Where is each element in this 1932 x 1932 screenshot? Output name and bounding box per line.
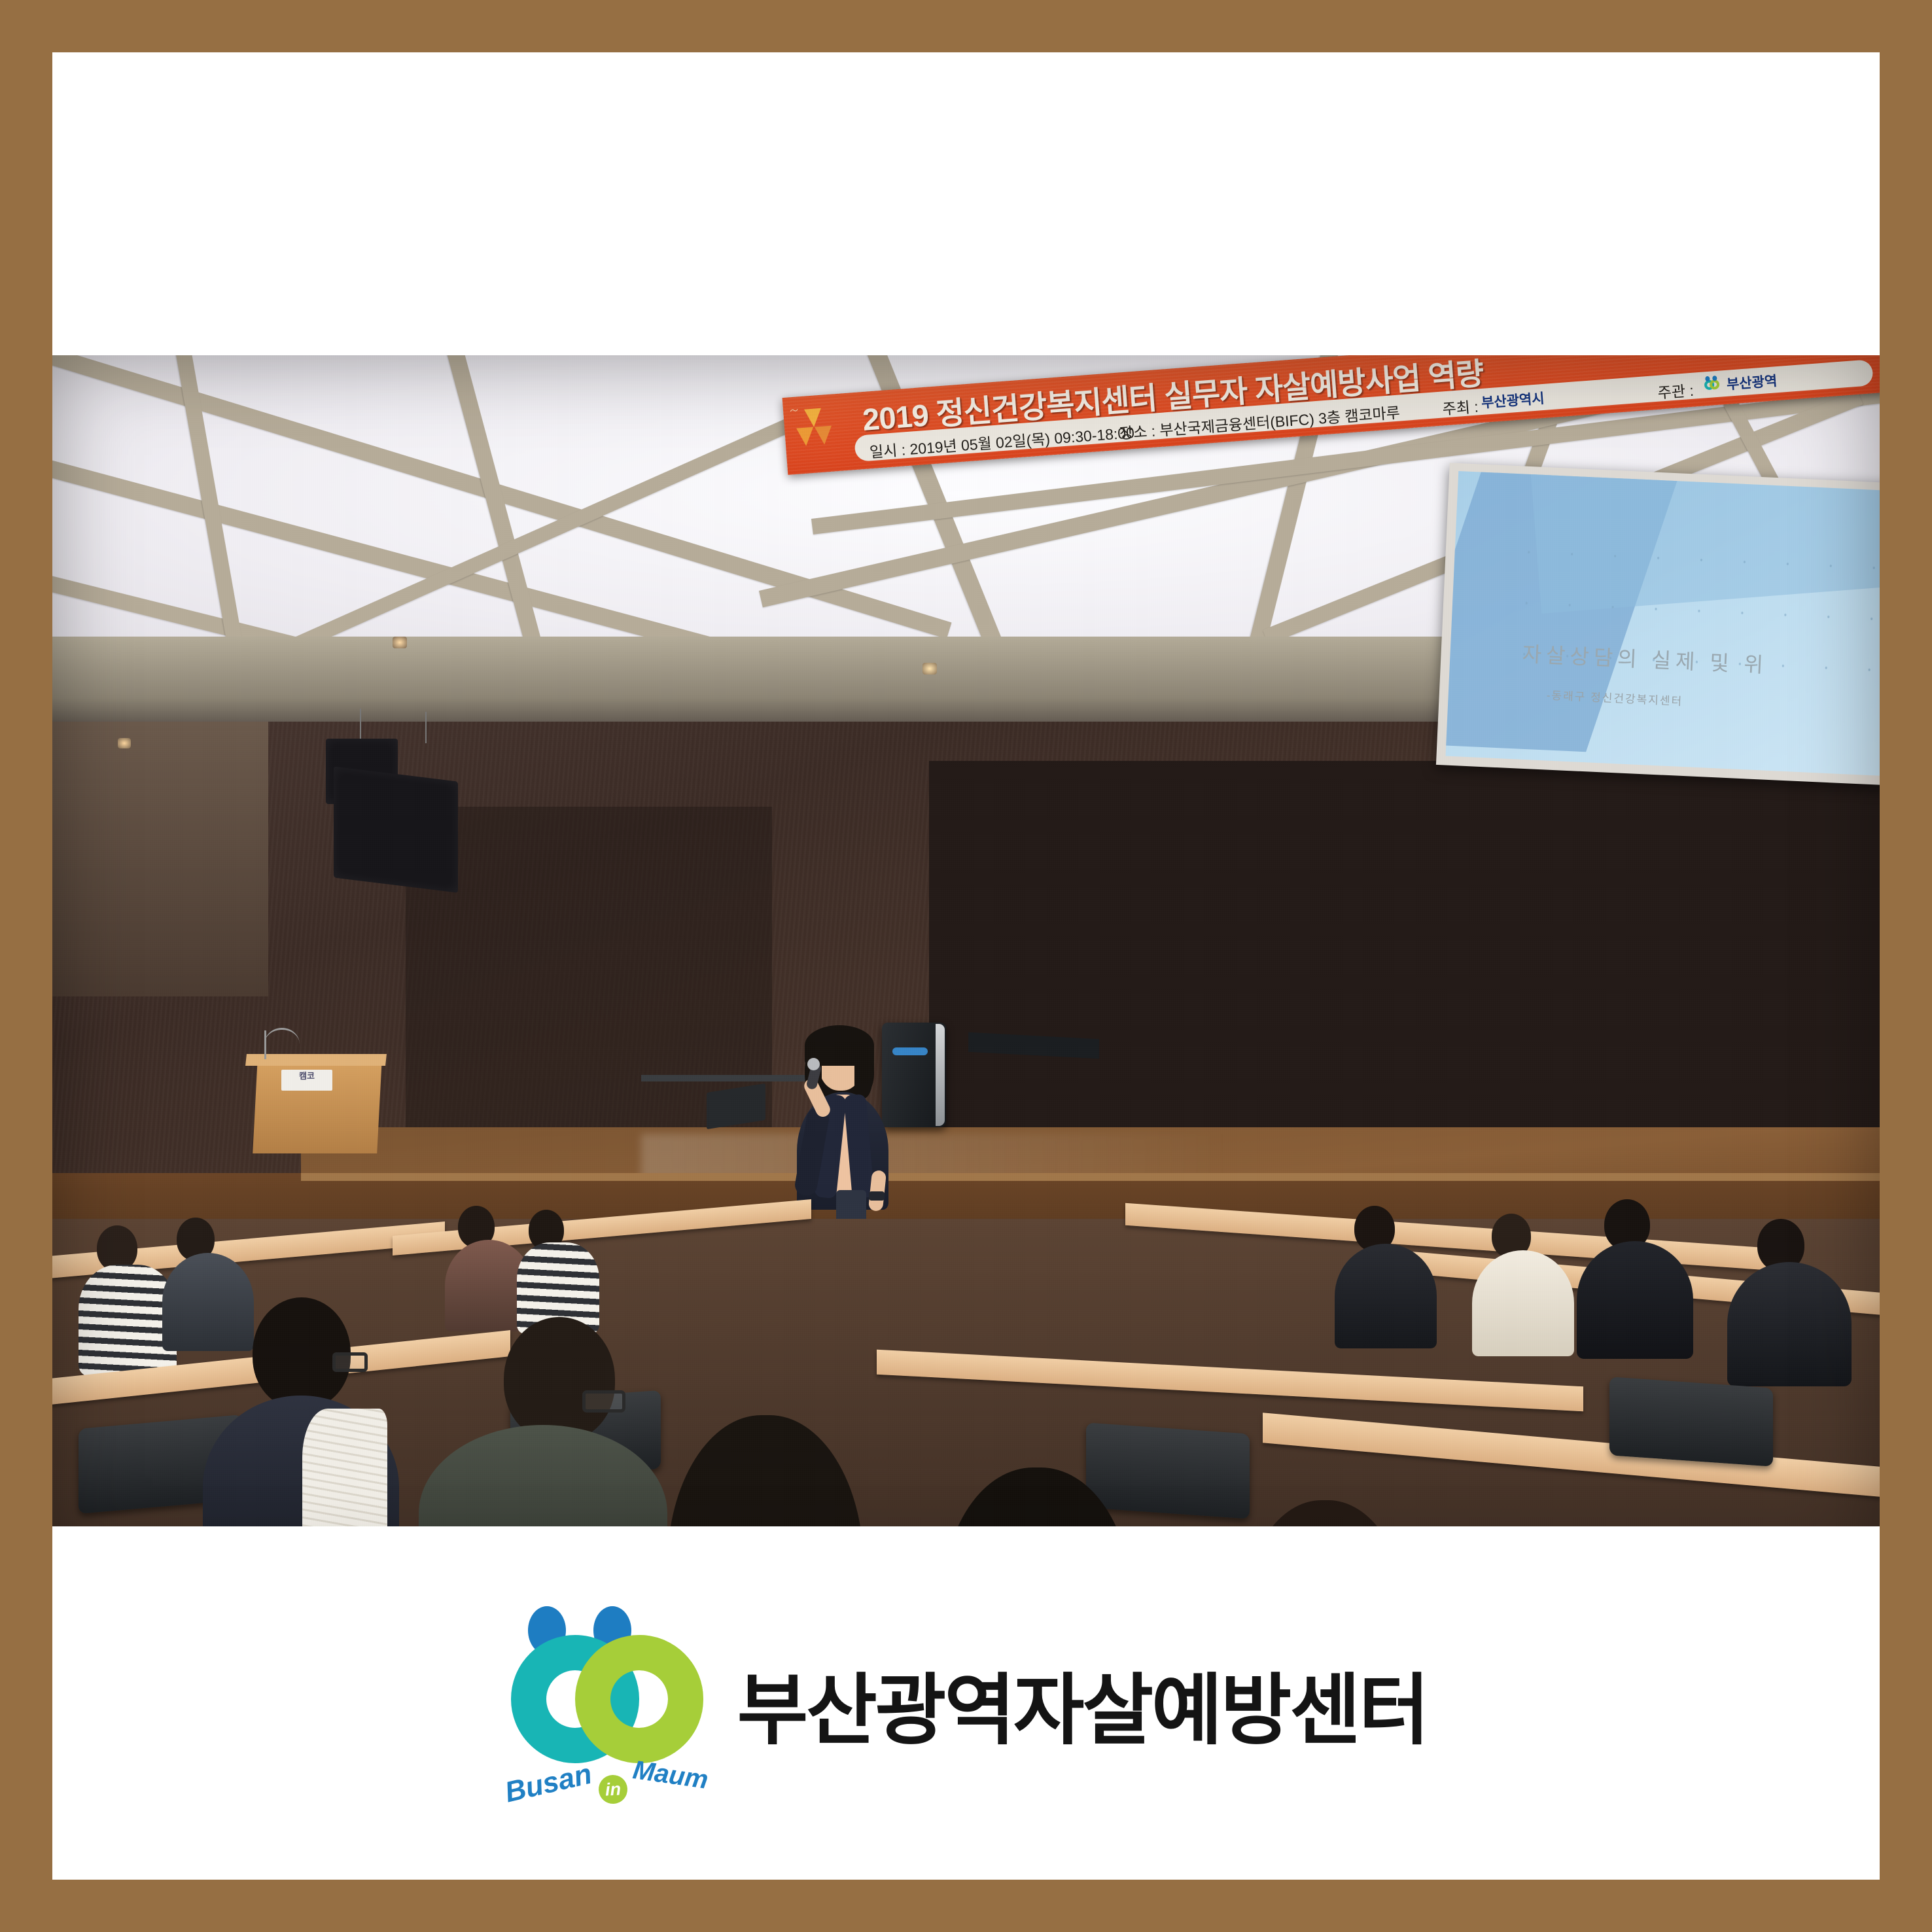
attendee <box>1577 1199 1701 1356</box>
banner-host-name: 부산광역시 <box>1481 388 1545 412</box>
footer-brand-bar: Busan in Maum 부산광역자살예방센터 <box>52 1526 1880 1880</box>
wristwatch <box>869 1191 885 1201</box>
tagline-maum: Maum <box>631 1755 710 1795</box>
attendee <box>1727 1219 1858 1382</box>
eyeglasses <box>332 1352 368 1372</box>
pa-speaker-wire <box>360 709 361 743</box>
poster-inner: ～ 2019 정신건강복지센터 실무자 자살예방사업 역량 일시 : 2019년… <box>52 52 1880 1880</box>
ceiling-pa-speaker <box>334 766 458 892</box>
projection-screen: 자살상담의 실제 및 위 -동래구 정신건강복지센터 <box>1436 463 1880 785</box>
pa-speaker-wire <box>425 712 427 743</box>
downlight <box>922 663 937 675</box>
poster-card: ～ 2019 정신건강복지센터 실무자 자살예방사업 역량 일시 : 2019년… <box>0 0 1932 1932</box>
tagline-in: in <box>598 1774 628 1804</box>
banner-organizer-name: 부산광역 <box>1726 370 1778 394</box>
chair[interactable] <box>1609 1377 1773 1466</box>
banner-host-label: 주최 : <box>1441 394 1479 419</box>
lectern-sign: 캠코 <box>281 1070 332 1091</box>
attendee <box>1472 1214 1583 1351</box>
attendee <box>517 1210 608 1334</box>
seminar-photo: ～ 2019 정신건강복지센터 실무자 자살예방사업 역량 일시 : 2019년… <box>52 355 1880 1578</box>
logo-tagline: Busan in Maum <box>499 1757 715 1802</box>
downlight <box>118 738 131 748</box>
banner-triangle-mark <box>795 403 845 459</box>
busan-in-maum-mini-logo <box>1702 376 1722 394</box>
tagline-busan: Busan <box>502 1758 595 1810</box>
busan-in-maum-logo: Busan in Maum <box>504 1605 707 1801</box>
center-name: 부산광역자살예방센터 <box>737 1647 1428 1759</box>
eyeglasses <box>582 1390 625 1413</box>
projection-screen-surface: 자살상담의 실제 및 위 -동래구 정신건강복지센터 <box>1446 471 1880 776</box>
downlight <box>393 637 407 648</box>
attendee <box>1335 1206 1446 1343</box>
banner-organizer-label: 주관 : <box>1657 378 1695 403</box>
left-wall-section <box>52 722 268 996</box>
